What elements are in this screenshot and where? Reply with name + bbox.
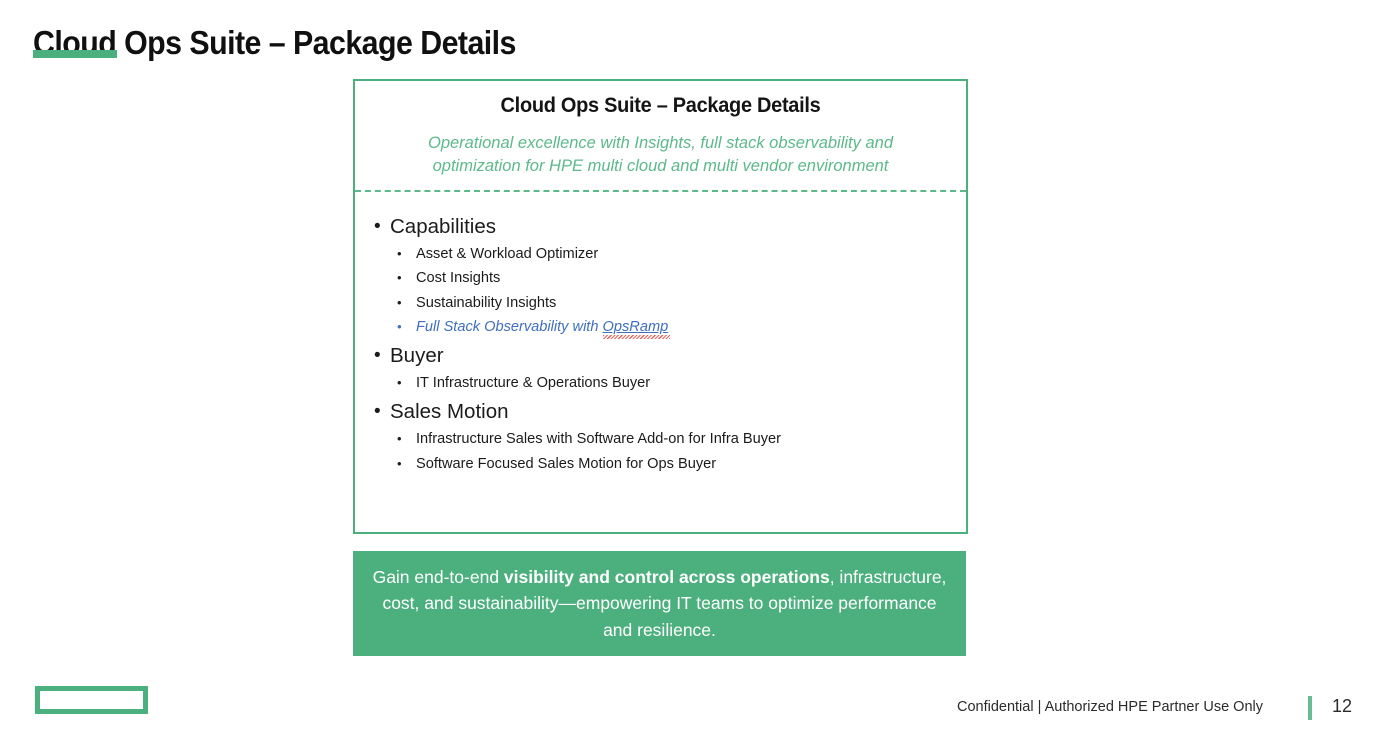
section-capabilities: Capabilities Asset & Workload Optimizer … <box>355 211 966 339</box>
spellcheck-squiggle-icon <box>603 335 671 339</box>
list-item: Software Focused Sales Motion for Ops Bu… <box>390 452 966 476</box>
opsramp-link-label: OpsRamp <box>603 319 669 335</box>
title-accent-bar <box>33 50 117 58</box>
section-label: Capabilities <box>390 215 496 238</box>
card-divider <box>355 190 966 192</box>
list-item: Cost Insights <box>390 266 966 290</box>
section-sales-motion: Sales Motion Infrastructure Sales with S… <box>355 396 966 476</box>
section-label: Sales Motion <box>390 400 509 423</box>
callout-text: Gain end-to-end visibility and control a… <box>353 564 966 644</box>
buyer-sub-list: IT Infrastructure & Operations Buyer <box>390 371 966 395</box>
callout-box: Gain end-to-end visibility and control a… <box>353 551 966 656</box>
capabilities-sub-list: Asset & Workload Optimizer Cost Insights… <box>390 242 966 339</box>
list-item-opsramp-link[interactable]: Full Stack Observability with OpsRamp <box>390 315 966 339</box>
sales-motion-sub-list: Infrastructure Sales with Software Add-o… <box>390 427 966 476</box>
section-buyer: Buyer IT Infrastructure & Operations Buy… <box>355 340 966 395</box>
footer-separator <box>1308 696 1312 720</box>
list-item-label: Full Stack Observability with <box>416 319 603 335</box>
list-item: Sustainability Insights <box>390 291 966 315</box>
callout-lead: Gain end-to-end <box>373 567 504 587</box>
opsramp-link[interactable]: OpsRamp <box>603 319 669 335</box>
list-item: Infrastructure Sales with Software Add-o… <box>390 427 966 451</box>
capabilities-list: Capabilities Asset & Workload Optimizer … <box>355 211 966 476</box>
list-item: IT Infrastructure & Operations Buyer <box>390 371 966 395</box>
footer-confidentiality-note: Confidential | Authorized HPE Partner Us… <box>957 699 1263 715</box>
page-number: 12 <box>1332 696 1352 717</box>
section-label: Buyer <box>390 344 444 367</box>
hpe-logo <box>35 686 148 714</box>
card-title: Cloud Ops Suite – Package Details <box>370 94 950 118</box>
list-item: Asset & Workload Optimizer <box>390 242 966 266</box>
package-details-card: Cloud Ops Suite – Package Details Operat… <box>353 79 968 534</box>
callout-emphasis: visibility and control across operations <box>504 567 830 587</box>
card-subtitle: Operational excellence with Insights, fu… <box>383 132 938 178</box>
